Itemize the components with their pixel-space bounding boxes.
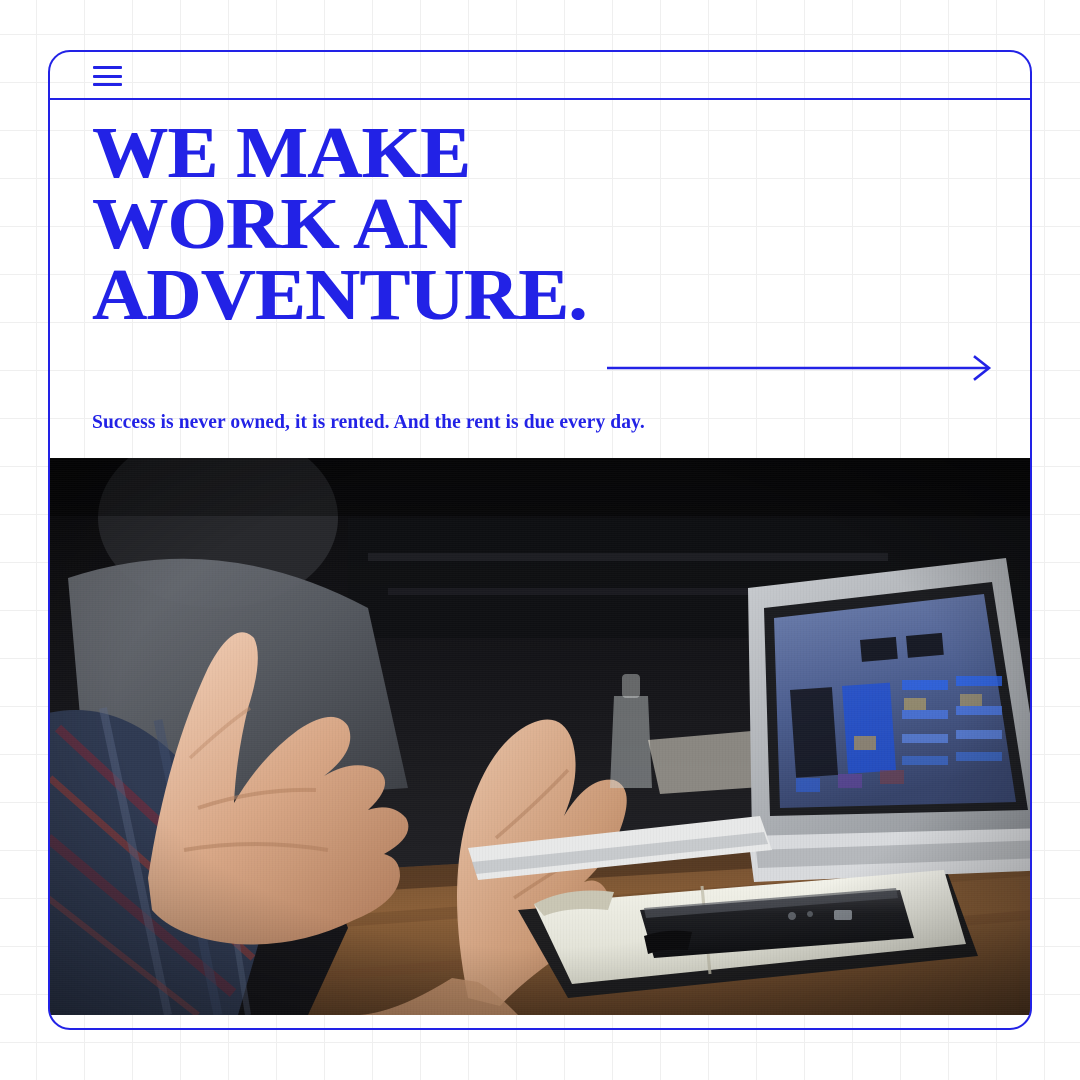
hamburger-line-1 bbox=[93, 66, 122, 69]
poster-canvas: WE MAKE WORK AN ADVENTURE. Success is ne… bbox=[0, 0, 1080, 1080]
arrow-right-icon[interactable] bbox=[607, 355, 997, 381]
hero-photo bbox=[50, 458, 1030, 1015]
subtitle-tagline: Success is never owned, it is rented. An… bbox=[92, 412, 645, 434]
headline-block: WE MAKE WORK AN ADVENTURE. Success is ne… bbox=[50, 100, 1030, 458]
card-footer: Join us: www.capcut.com | hello@capcut.c… bbox=[50, 1015, 1030, 1030]
poster-card: WE MAKE WORK AN ADVENTURE. Success is ne… bbox=[48, 50, 1032, 1030]
hamburger-menu-icon[interactable] bbox=[93, 66, 122, 86]
hamburger-line-2 bbox=[93, 75, 122, 78]
hamburger-line-3 bbox=[93, 83, 122, 86]
card-topbar bbox=[50, 52, 1030, 100]
page-title: WE MAKE WORK AN ADVENTURE. bbox=[92, 118, 1032, 330]
